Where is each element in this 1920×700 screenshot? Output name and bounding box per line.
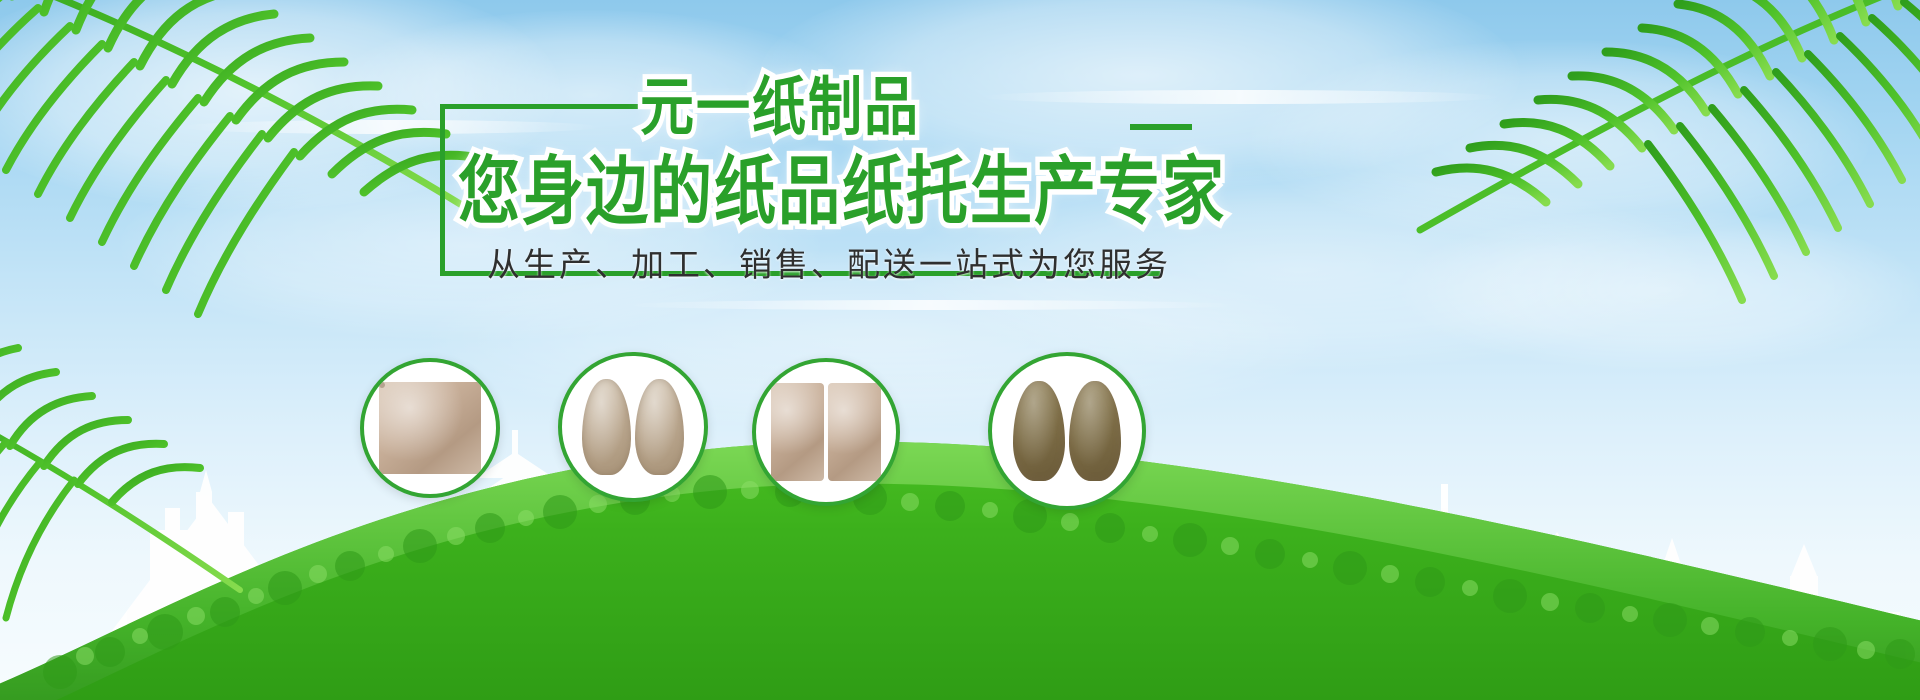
- product-thumbnail-shoe-insert-pair-light[interactable]: [558, 352, 708, 502]
- product-image-double-pulp-tray: [771, 383, 880, 481]
- product-thumbnail-square-pulp-tray[interactable]: [360, 358, 500, 498]
- frame-line-left: [440, 104, 445, 276]
- page-subtitle: 从生产、加工、销售、配送一站式为您服务: [487, 238, 1187, 286]
- hero-banner: 元一纸制品 您身边的纸品纸托生产专家 从生产、加工、销售、配送一站式为您服务: [0, 0, 1920, 700]
- product-image-square-pulp-tray: [379, 382, 482, 474]
- product-image-shoe-insert-pair-light: [578, 377, 689, 476]
- page-title-line1: 元一纸制品: [640, 76, 920, 140]
- frame-line-top-right: [1130, 124, 1192, 130]
- product-image-shoe-insert-pair-dark: [1009, 379, 1126, 484]
- page-title-line2: 您身边的纸品纸托生产专家: [458, 156, 1226, 230]
- product-thumbnail-shoe-insert-pair-dark[interactable]: [988, 352, 1146, 510]
- cloud-streak: [980, 90, 1500, 104]
- product-thumbnail-double-pulp-tray[interactable]: [752, 358, 900, 506]
- cloud-decoration: [1250, 40, 1870, 240]
- grass-hill: [0, 300, 1920, 700]
